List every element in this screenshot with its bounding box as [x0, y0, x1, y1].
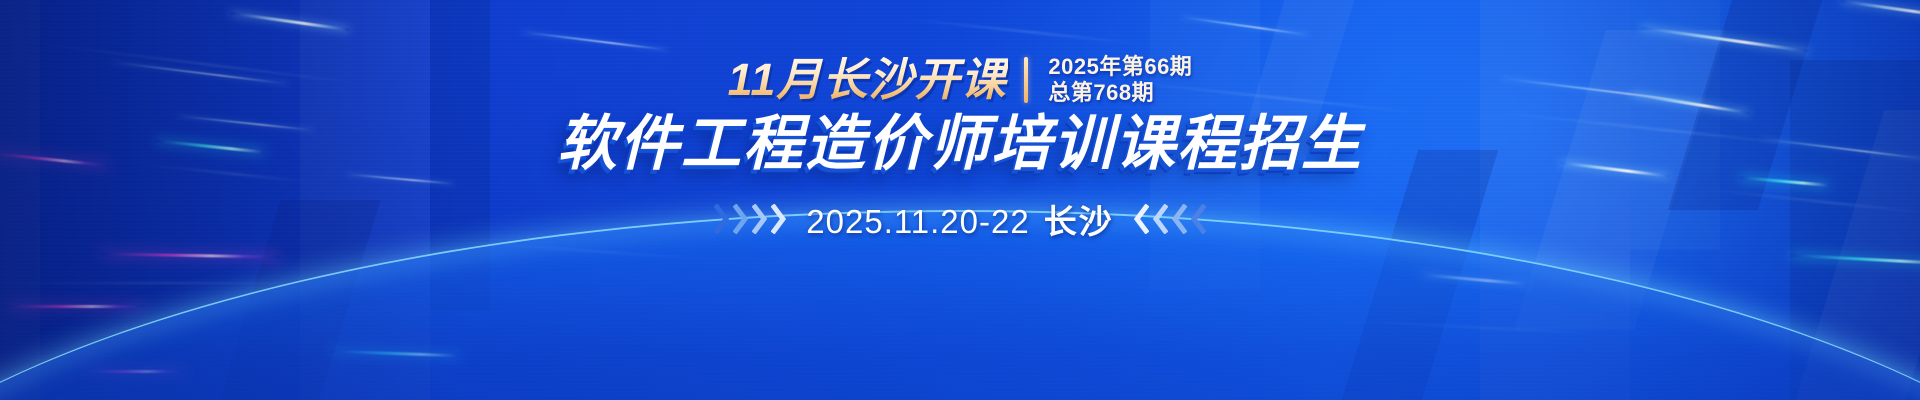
horizon-glow [0, 216, 1920, 400]
light-streak [520, 31, 669, 51]
light-streak-cyan [1790, 254, 1920, 265]
banner-title: 软件工程造价师培训课程招生 [557, 112, 1363, 177]
chevrons-right [1132, 204, 1206, 234]
chevron-left-icon [1189, 204, 1206, 234]
light-streak [901, 17, 1140, 44]
chevron-right-icon [752, 204, 769, 234]
light-streak-magenta [5, 305, 145, 308]
light-streak [1330, 319, 1610, 336]
light-streak [1641, 26, 1810, 53]
promo-banner: 11月长沙开课 2025年第66期 总第768期 软件工程造价师培训课程招生 [0, 0, 1920, 400]
light-streak [460, 241, 720, 261]
chevron-right-icon [714, 204, 731, 234]
date-text: 2025.11.20-22长沙 [806, 195, 1113, 243]
light-streak [0, 282, 300, 284]
light-streak [1840, 0, 1920, 19]
date-value: 2025.11.20-22 [806, 203, 1029, 240]
kicker-row: 11月长沙开课 2025年第66期 总第768期 [728, 54, 1193, 106]
issue-line-1: 2025年第66期 [1048, 54, 1192, 80]
vertical-divider [1024, 57, 1028, 103]
chevron-left-icon [1170, 204, 1187, 234]
light-streak-magenta [85, 370, 185, 373]
issue-info: 2025年第66期 总第768期 [1048, 54, 1192, 106]
issue-line-2: 总第768期 [1048, 80, 1192, 106]
chevron-left-icon [1132, 204, 1149, 234]
light-streak [230, 12, 349, 32]
chevron-left-icon [1151, 204, 1168, 234]
date-row: 2025.11.20-22长沙 [714, 195, 1205, 243]
light-streak [1420, 273, 1530, 286]
chevron-right-icon [733, 204, 750, 234]
chevron-right-icon [771, 204, 788, 234]
kicker-text: 11月长沙开课 [728, 57, 1009, 102]
light-streak-magenta [100, 252, 280, 258]
banner-content: 11月长沙开课 2025年第66期 总第768期 软件工程造价师培训课程招生 [0, 54, 1920, 243]
city-value: 长沙 [1044, 203, 1114, 240]
light-streak-cyan [330, 350, 460, 358]
light-streak [1180, 16, 1309, 36]
chevrons-left [714, 204, 788, 234]
